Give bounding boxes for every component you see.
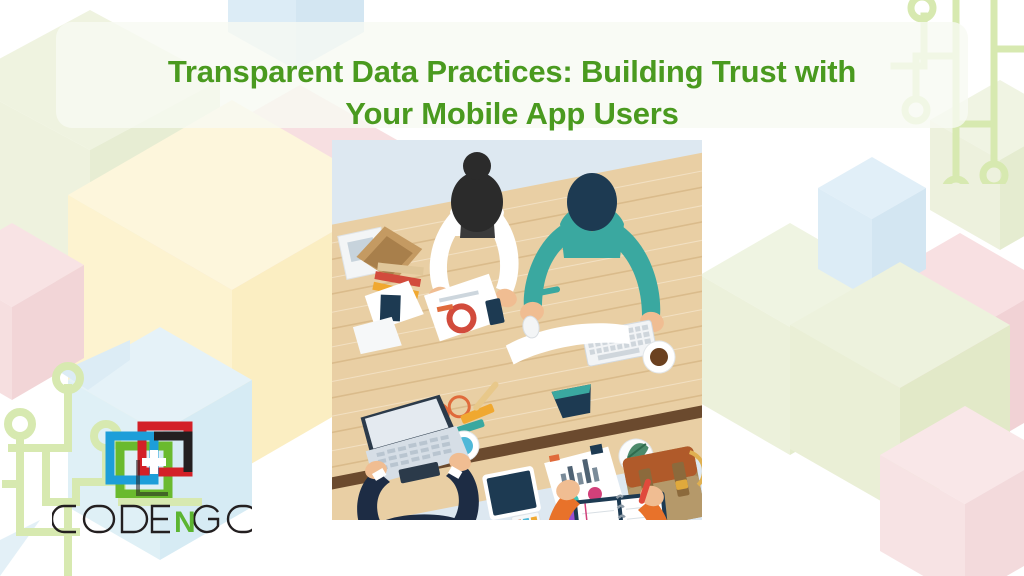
codengo-wordmark: N [52,502,252,536]
logo-mark-overlapping-squares [104,420,202,498]
office-desk-illustration [332,140,702,520]
page-title-line-1: Transparent Data Practices: Building Tru… [168,54,856,89]
logo-wordmark: N [52,502,252,536]
brand-logo[interactable]: N [52,420,252,535]
svg-text:N: N [174,506,196,536]
page-title-line-2: Your Mobile App Users [345,96,678,131]
page-title: Transparent Data Practices: Building Tru… [56,51,968,135]
slide-canvas: Transparent Data Practices: Building Tru… [0,0,1024,576]
hero-image [332,140,702,520]
